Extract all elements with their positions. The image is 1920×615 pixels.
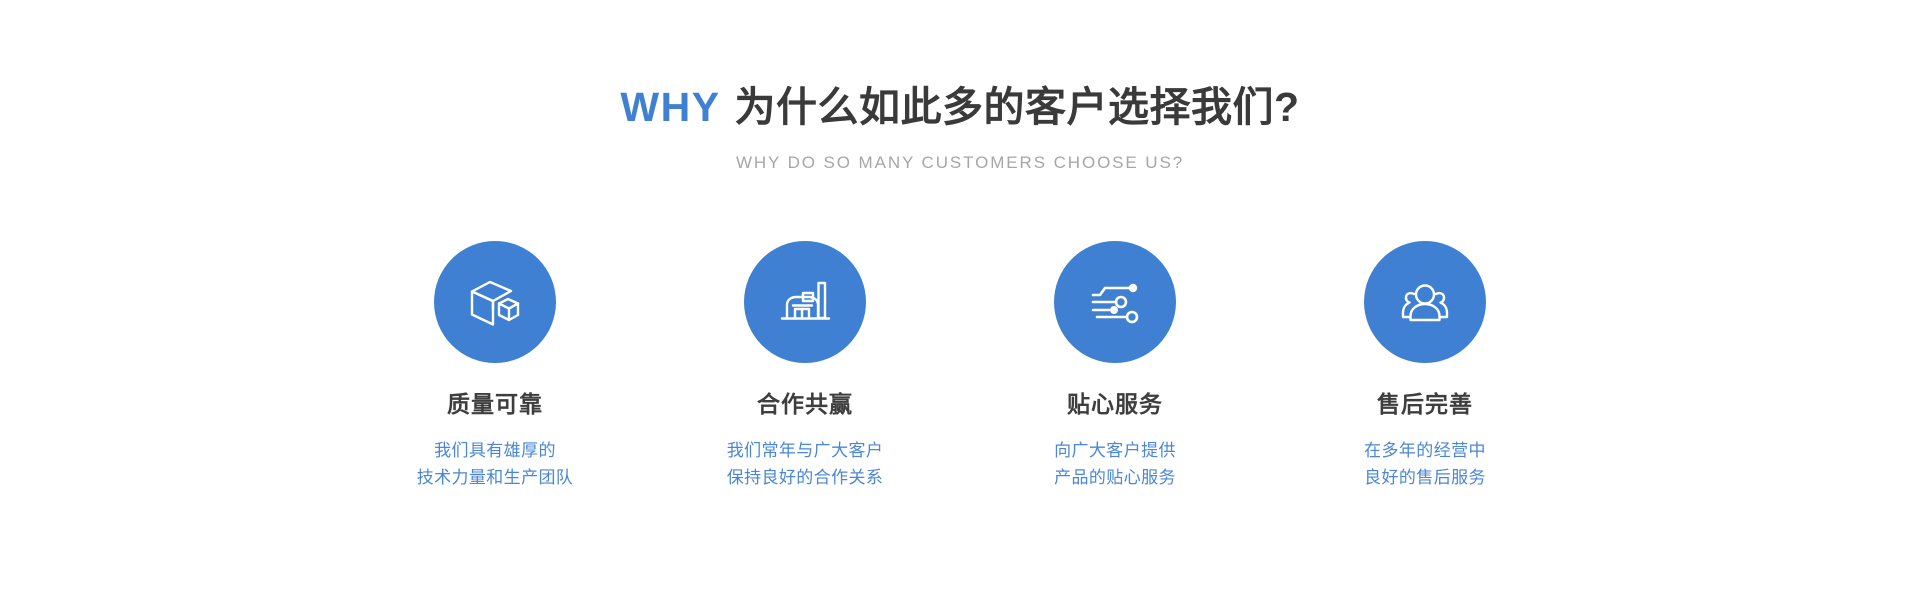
- heading-block: WHY为什么如此多的客户选择我们? WHY DO SO MANY CUSTOME…: [0, 84, 1920, 173]
- feature-title: 贴心服务: [1067, 391, 1163, 419]
- feature-item-quality[interactable]: 质量可靠 我们具有雄厚的 技术力量和生产团队: [370, 241, 620, 492]
- feature-desc-line-1: 向广大客户提供: [1054, 437, 1176, 465]
- feature-description: 向广大客户提供 产品的贴心服务: [1054, 437, 1176, 492]
- feature-desc-line-1: 在多年的经营中: [1364, 437, 1486, 465]
- feature-title: 质量可靠: [447, 391, 543, 419]
- feature-description: 我们常年与广大客户 保持良好的合作关系: [727, 437, 884, 492]
- feature-desc-line-1: 我们常年与广大客户: [727, 437, 884, 465]
- title-why-label: WHY: [620, 84, 720, 130]
- feature-desc-line-2: 保持良好的合作关系: [727, 464, 884, 492]
- feature-desc-line-2: 产品的贴心服务: [1054, 464, 1176, 492]
- page-subtitle: WHY DO SO MANY CUSTOMERS CHOOSE US?: [0, 153, 1920, 173]
- title-chinese: 为什么如此多的客户选择我们?: [735, 84, 1300, 130]
- feature-title: 售后完善: [1377, 391, 1473, 419]
- circuit-nodes-icon-glyph: [1083, 270, 1147, 334]
- factory-building-icon-glyph: [773, 270, 837, 334]
- why-choose-us-section: WHY为什么如此多的客户选择我们? WHY DO SO MANY CUSTOME…: [0, 0, 1920, 615]
- people-group-icon: [1364, 241, 1486, 363]
- people-group-icon-glyph: [1393, 270, 1457, 334]
- page-title: WHY为什么如此多的客户选择我们?: [0, 84, 1920, 131]
- feature-desc-line-2: 技术力量和生产团队: [417, 464, 574, 492]
- feature-description: 我们具有雄厚的 技术力量和生产团队: [417, 437, 574, 492]
- feature-item-cooperation[interactable]: 合作共赢 我们常年与广大客户 保持良好的合作关系: [680, 241, 930, 492]
- factory-building-icon: [744, 241, 866, 363]
- feature-description: 在多年的经营中 良好的售后服务: [1364, 437, 1486, 492]
- feature-desc-line-1: 我们具有雄厚的: [417, 437, 574, 465]
- package-box-icon: [434, 241, 556, 363]
- feature-item-aftersales[interactable]: 售后完善 在多年的经营中 良好的售后服务: [1300, 241, 1550, 492]
- feature-desc-line-2: 良好的售后服务: [1364, 464, 1486, 492]
- feature-item-service[interactable]: 贴心服务 向广大客户提供 产品的贴心服务: [990, 241, 1240, 492]
- features-row: 质量可靠 我们具有雄厚的 技术力量和生产团队: [370, 241, 1550, 492]
- package-box-icon-glyph: [463, 270, 527, 334]
- feature-title: 合作共赢: [757, 391, 853, 419]
- circuit-nodes-icon: [1054, 241, 1176, 363]
